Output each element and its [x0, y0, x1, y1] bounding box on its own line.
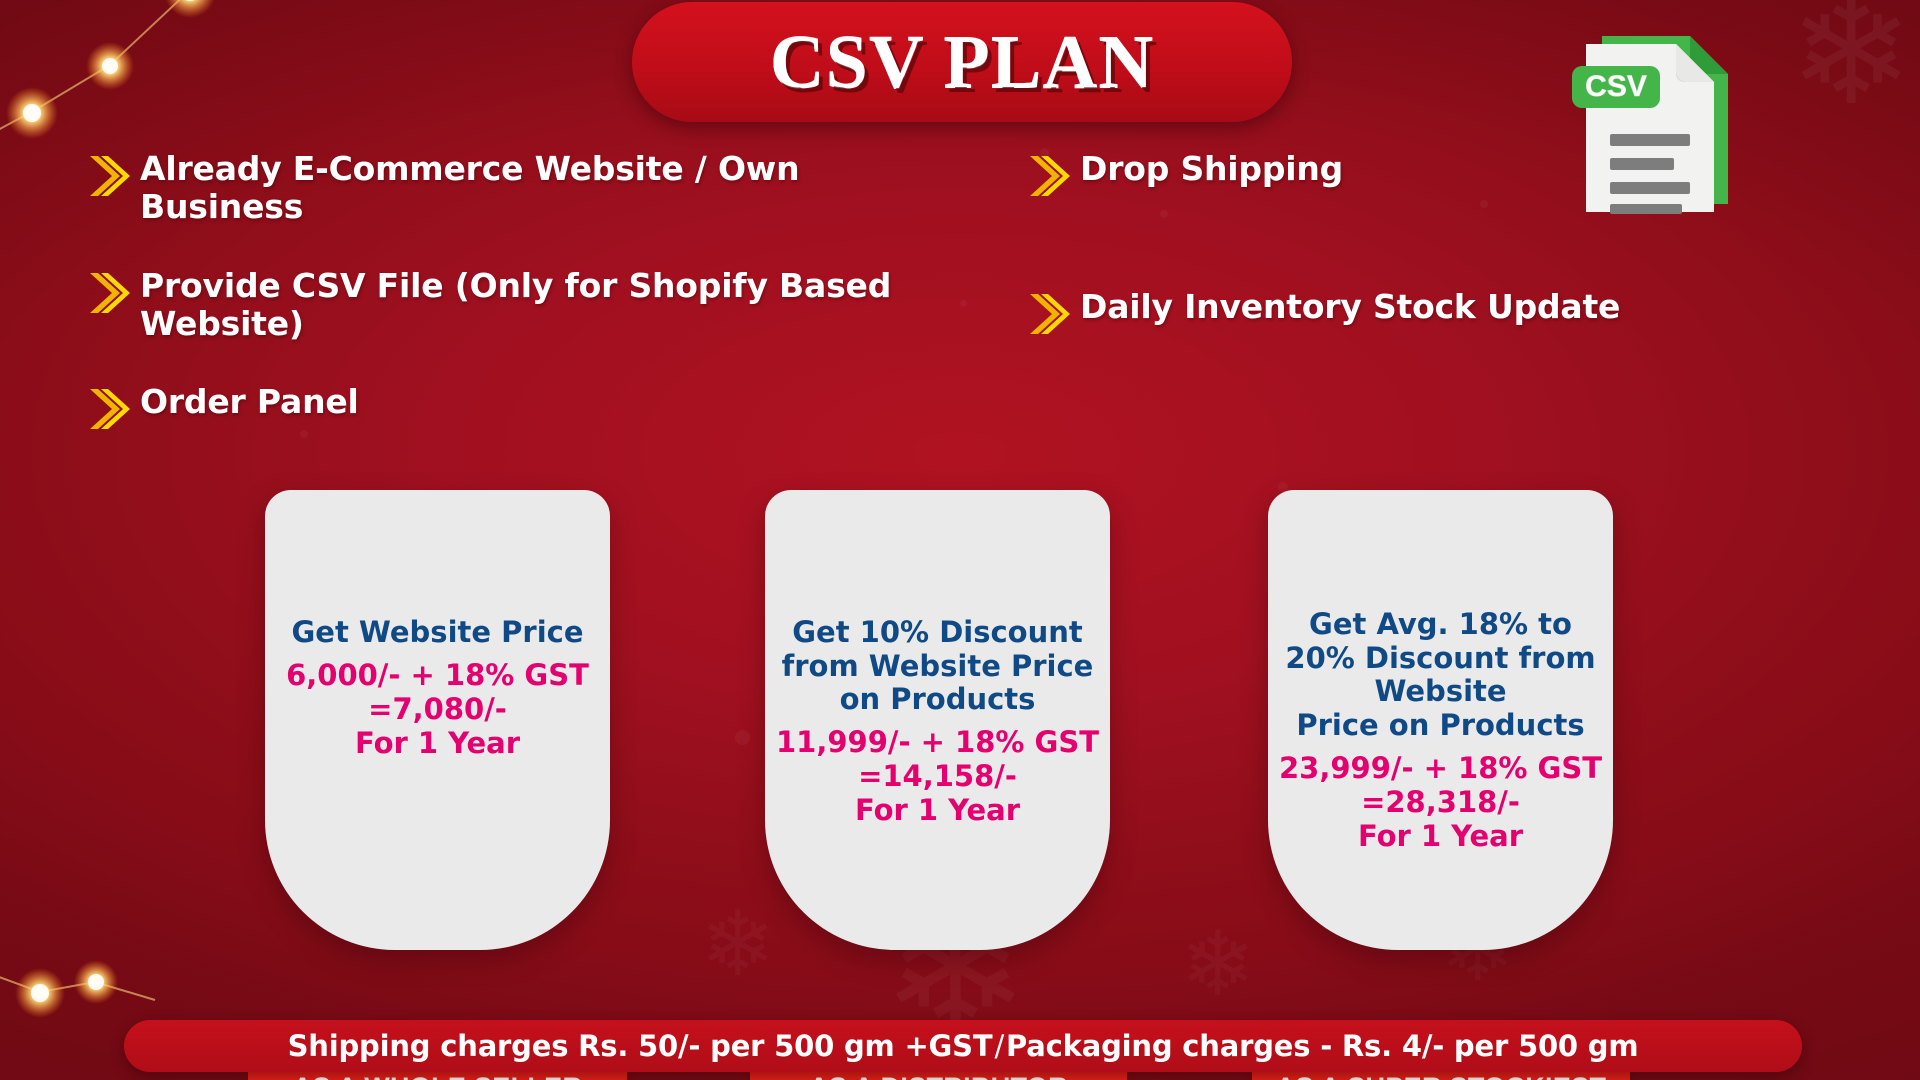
- pricing-card-body: Get Website Price 6,000/- + 18% GST =7,0…: [265, 616, 610, 760]
- csv-badge-label: CSV: [1585, 70, 1647, 103]
- pricing-card-body: Get 10% Discount from Website Price on P…: [765, 616, 1110, 828]
- plan-price-line: 23,999/- + 18% GST: [1278, 751, 1603, 785]
- pricing-card: Get 10% Discount from Website Price on P…: [765, 490, 1110, 950]
- chevron-right-icon: [1028, 154, 1074, 198]
- pricing-card-body: Get Avg. 18% to 20% Discount from Websit…: [1268, 608, 1613, 853]
- plan-heading: Get Avg. 18% to 20% Discount from Websit…: [1278, 608, 1603, 743]
- list-item: Already E-Commerce Website / Own Busines…: [88, 150, 968, 227]
- feature-label: Drop Shipping: [1080, 150, 1343, 188]
- plan-ribbon-label: AS A SUPER STOCKIEST: [1276, 1072, 1607, 1080]
- feature-label: Daily Inventory Stock Update: [1080, 288, 1620, 326]
- chevron-right-icon: [1028, 292, 1074, 336]
- plan-price-line: For 1 Year: [775, 793, 1100, 827]
- chevron-right-icon: [88, 154, 134, 198]
- list-item: Order Panel: [88, 383, 968, 431]
- footer-shipping-text: Shipping charges Rs. 50/- per 500 gm +GS…: [288, 1029, 993, 1063]
- pricing-cards: Get Website Price 6,000/- + 18% GST =7,0…: [0, 490, 1920, 960]
- feature-label: Order Panel: [140, 383, 359, 421]
- chevron-right-icon: [88, 271, 134, 315]
- chevron-right-icon: [88, 387, 134, 431]
- plan-price-line: =28,318/-: [1278, 785, 1603, 819]
- pricing-card: Get Website Price 6,000/- + 18% GST =7,0…: [265, 490, 610, 950]
- plan-price-line: =7,080/-: [275, 692, 600, 726]
- footer-banner: Shipping charges Rs. 50/- per 500 gm +GS…: [124, 1020, 1802, 1072]
- ornament-icon: ❄: [1788, 0, 1914, 126]
- page-title: CSV PLAN: [770, 19, 1155, 106]
- pricing-card: Get Avg. 18% to 20% Discount from Websit…: [1268, 490, 1613, 950]
- footer-packaging-text: Packaging charges - Rs. 4/- per 500 gm: [1006, 1029, 1638, 1063]
- plan-ribbon-label: AS A WHOLE SELLER: [293, 1072, 583, 1080]
- footer-separator: /: [992, 1029, 1006, 1063]
- page-title-banner: CSV PLAN: [632, 2, 1292, 122]
- feature-column-left: Already E-Commerce Website / Own Busines…: [88, 150, 968, 453]
- plan-price-line: For 1 Year: [1278, 819, 1603, 853]
- plan-price-line: For 1 Year: [275, 726, 600, 760]
- list-item: Daily Inventory Stock Update: [1028, 288, 1748, 336]
- feature-column-right: Drop Shipping Daily Inventory Stock Upda…: [1028, 150, 1748, 453]
- feature-label: Already E-Commerce Website / Own Busines…: [140, 150, 968, 227]
- list-item: Drop Shipping: [1028, 150, 1748, 198]
- plan-price-line: =14,158/-: [775, 759, 1100, 793]
- plan-heading: Get 10% Discount from Website Price on P…: [775, 616, 1100, 717]
- plan-price-line: 11,999/- + 18% GST: [775, 725, 1100, 759]
- list-item: Provide CSV File (Only for Shopify Based…: [88, 267, 968, 344]
- feature-label: Provide CSV File (Only for Shopify Based…: [140, 267, 968, 344]
- feature-list: Already E-Commerce Website / Own Busines…: [88, 150, 1748, 453]
- plan-heading: Get Website Price: [275, 616, 600, 650]
- plan-ribbon-label: AS A DISTRIBUTOR: [809, 1072, 1068, 1080]
- plan-price-line: 6,000/- + 18% GST: [275, 658, 600, 692]
